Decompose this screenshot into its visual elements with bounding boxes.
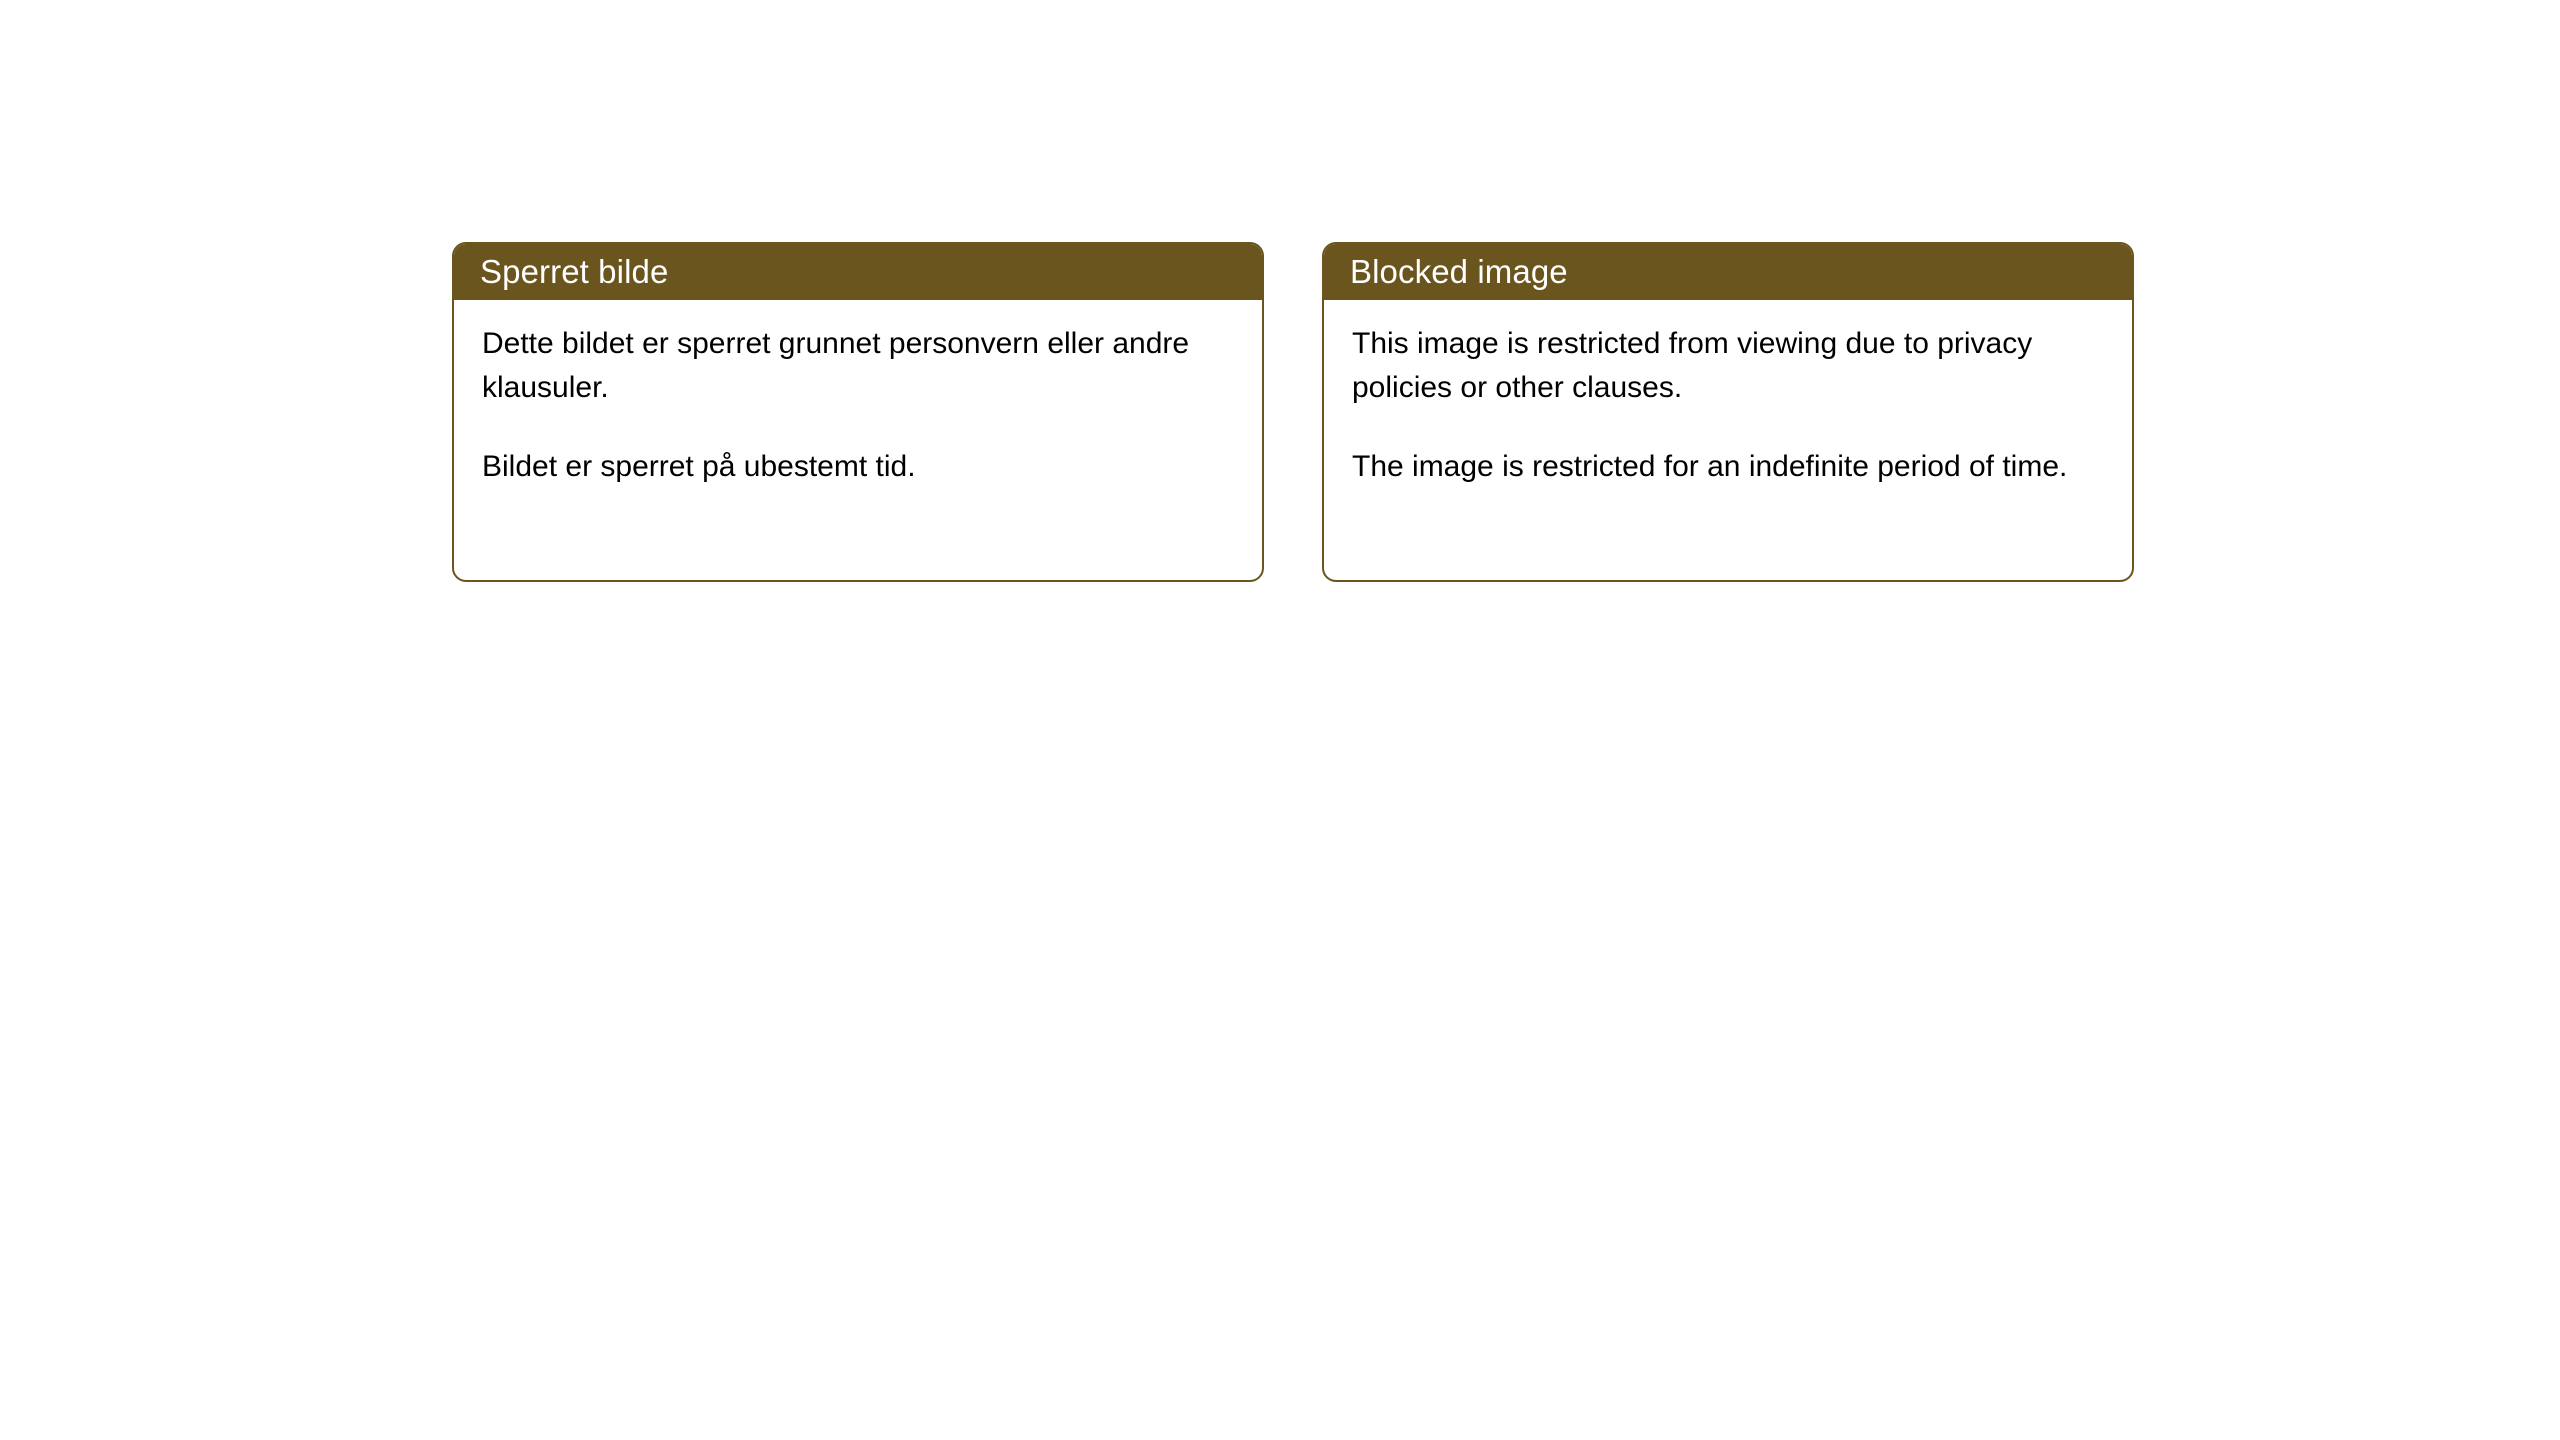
page-canvas: Sperret bilde Dette bildet er sperret gr… [0, 0, 2560, 1440]
card-paragraph-duration-norwegian: Bildet er sperret på ubestemt tid. [482, 445, 1236, 489]
card-body-english: This image is restricted from viewing du… [1324, 300, 2132, 489]
blocked-image-notice-card-norwegian: Sperret bilde Dette bildet er sperret gr… [452, 242, 1264, 582]
card-paragraph-duration-english: The image is restricted for an indefinit… [1352, 445, 2106, 489]
card-paragraph-reason-english: This image is restricted from viewing du… [1352, 322, 2106, 410]
card-body-norwegian: Dette bildet er sperret grunnet personve… [454, 300, 1262, 489]
card-header-english: Blocked image [1322, 242, 2134, 300]
card-header-norwegian: Sperret bilde [452, 242, 1264, 300]
card-title-english: Blocked image [1350, 255, 1568, 288]
card-paragraph-reason-norwegian: Dette bildet er sperret grunnet personve… [482, 322, 1236, 410]
card-title-norwegian: Sperret bilde [480, 255, 668, 288]
blocked-image-notice-card-english: Blocked image This image is restricted f… [1322, 242, 2134, 582]
